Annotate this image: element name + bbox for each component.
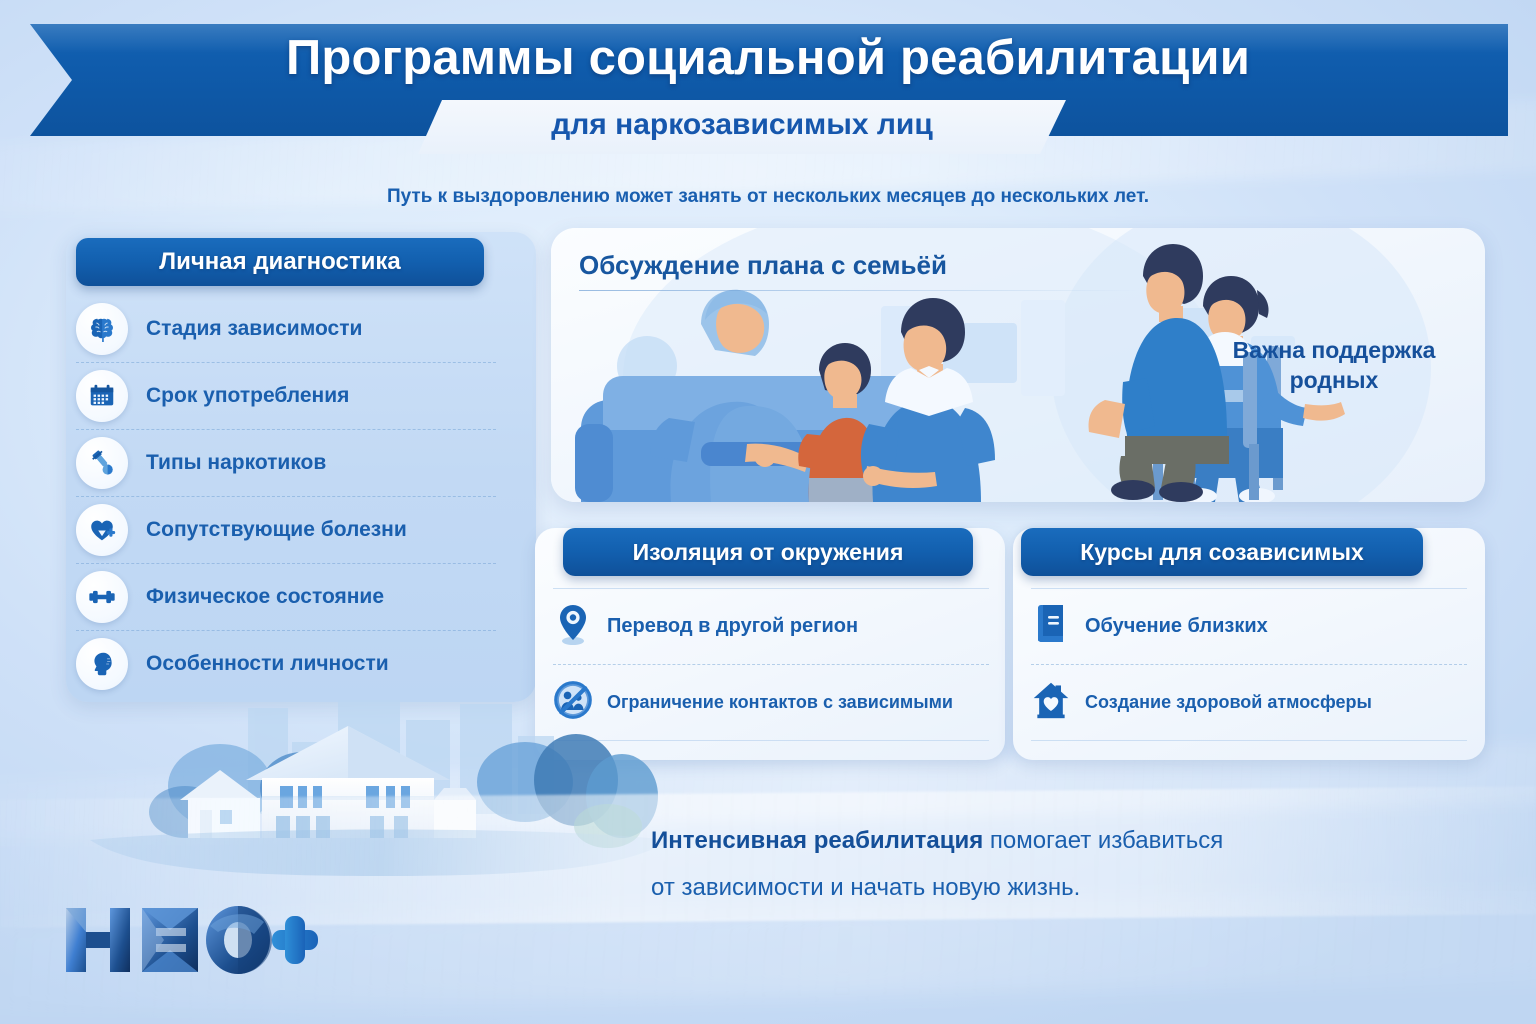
house-heart-icon — [1031, 678, 1071, 727]
list-item-label: Стадия зависимости — [146, 317, 362, 341]
book-icon — [1031, 602, 1071, 651]
codependent-courses-heading: Курсы для созависимых — [1021, 528, 1423, 576]
infographic-poster: Программы социальной реабилитации для на… — [0, 0, 1536, 1024]
dumbbell-icon — [76, 571, 128, 623]
family-title-rule — [579, 290, 1139, 291]
list-item-label: Сопутствующие болезни — [146, 518, 407, 542]
diagnostics-heading-label: Личная диагностика — [76, 238, 484, 286]
isolation-heading-label: Изоляция от окружения — [563, 528, 973, 576]
list-item[interactable]: Срок употребления — [76, 363, 496, 430]
footer-rest: помогает избавиться — [983, 827, 1223, 854]
isolation-heading: Изоляция от окружения — [563, 528, 973, 576]
footer-line-1: Интенсивная реабилитация помогает избави… — [651, 818, 1391, 865]
support-note: Важна поддержка родных — [1219, 336, 1449, 396]
list-item[interactable]: Обучение близких — [1031, 588, 1467, 665]
footer-line-2: от зависимости и начать новую жизнь. — [651, 865, 1391, 912]
list-item-label: Типы наркотиков — [146, 451, 326, 475]
diagnostics-heading: Личная диагностика — [76, 238, 484, 286]
heart-plus-icon — [76, 504, 128, 556]
list-item[interactable]: Сопутствующие болезни — [76, 497, 496, 564]
diagnostics-list: Стадия зависимости — [76, 296, 496, 697]
brain-icon — [76, 303, 128, 355]
codependent-courses-heading-label: Курсы для созависимых — [1021, 528, 1423, 576]
list-item-label: Обучение близких — [1085, 615, 1268, 638]
list-item-label: Срок употребления — [146, 384, 349, 408]
family-discussion-card: Обсуждение плана с семьёй Важна поддержк… — [551, 228, 1485, 502]
list-item[interactable]: Стадия зависимости — [76, 296, 496, 363]
list-item[interactable]: Перевод в другой регион — [553, 588, 989, 665]
page-title: Программы социальной реабилитации — [0, 30, 1536, 86]
list-item-label: Создание здоровой атмосферы — [1085, 692, 1372, 713]
list-item[interactable]: Типы наркотиков — [76, 430, 496, 497]
footer-bold-lead: Интенсивная реабилитация — [651, 827, 983, 854]
list-item[interactable]: Физическое состояние — [76, 564, 496, 631]
page-subtitle: для наркозависимых лиц — [418, 108, 1066, 142]
map-pin-icon — [553, 602, 593, 651]
family-card-title: Обсуждение плана с семьёй — [579, 250, 947, 281]
footer-text: Интенсивная реабилитация помогает избави… — [651, 818, 1391, 912]
neo-plus-logo — [60, 900, 320, 980]
codependent-courses-rows: Обучение близких Создание здоровой атмос… — [1031, 588, 1467, 741]
head-profile-icon — [76, 638, 128, 690]
calendar-icon — [76, 370, 128, 422]
lede-text: Путь к выздоровлению может занять от нес… — [0, 186, 1536, 208]
list-item-label: Перевод в другой регион — [607, 615, 858, 638]
list-item[interactable]: Создание здоровой атмосферы — [1031, 665, 1467, 741]
syringe-icon — [76, 437, 128, 489]
list-item[interactable]: Особенности личности — [76, 631, 496, 697]
list-item-label: Физическое состояние — [146, 585, 384, 609]
list-item-label: Особенности личности — [146, 652, 389, 676]
